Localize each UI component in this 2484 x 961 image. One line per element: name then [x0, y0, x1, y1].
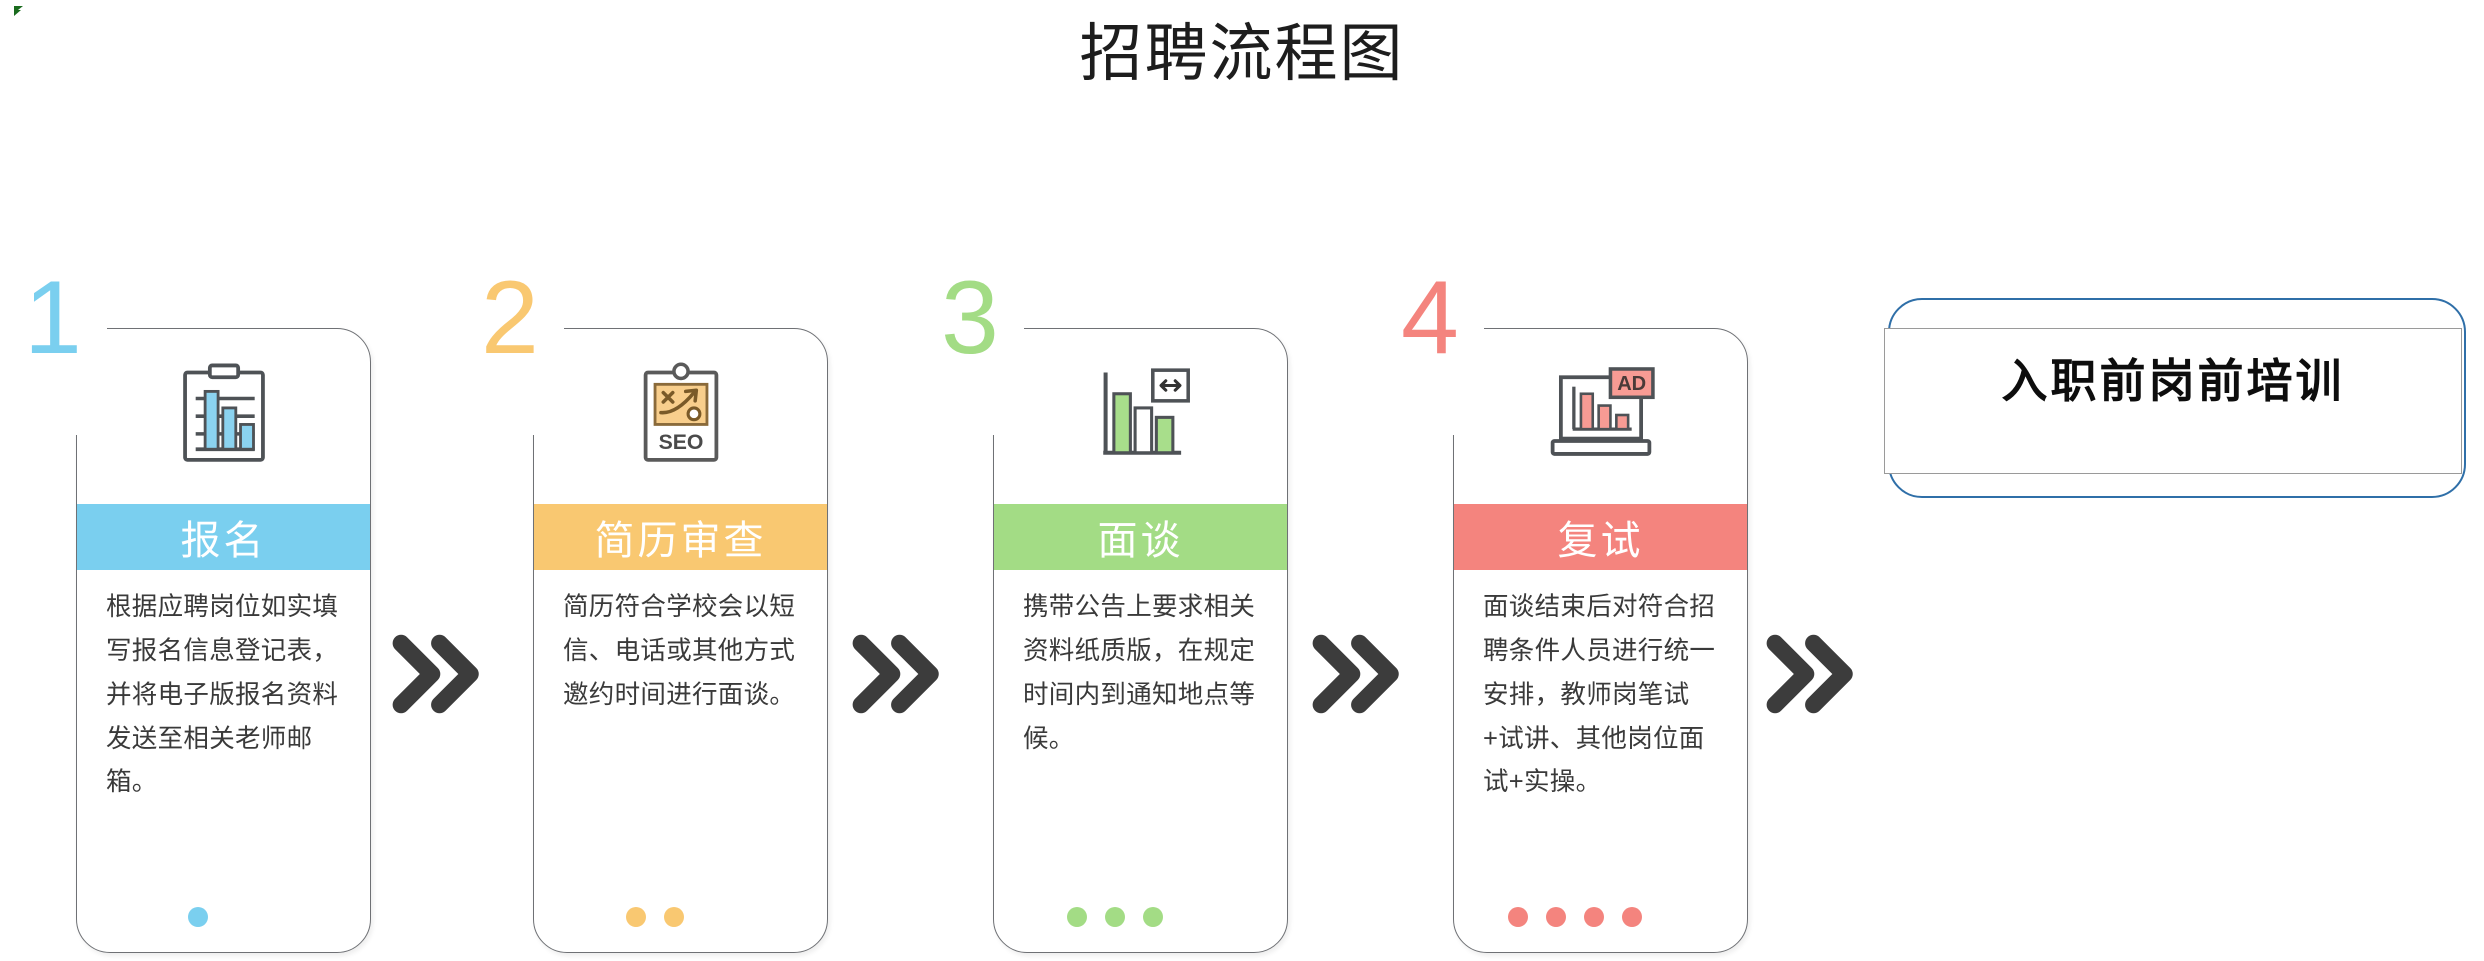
flow-step-card-2[interactable]: 2 SEO 简历审查 简历符合学校会以短信、电话或其他方式邀约时间进行面谈。 — [533, 328, 828, 953]
dot — [1067, 907, 1087, 927]
flow-step-card-3[interactable]: 3 面谈 携带公告上要求相关资料纸质版，在规定时间内到通知地点等候。 — [993, 328, 1288, 953]
dot — [1508, 907, 1528, 927]
dot — [1105, 907, 1125, 927]
final-stage-label: 入职前岗前培训 — [1885, 345, 2461, 411]
double-chevron-right-icon — [390, 634, 486, 714]
dot — [1622, 907, 1642, 927]
dot — [626, 907, 646, 927]
step-header-1: 报名 — [77, 504, 370, 570]
clipboard-seo-growth-icon: SEO — [622, 356, 740, 474]
step-dots-4 — [1453, 907, 1748, 927]
icon-label-ad: AD — [1617, 373, 1646, 395]
dot — [664, 907, 684, 927]
dot — [188, 907, 208, 927]
step-number-4: 4 — [1401, 266, 1457, 370]
step-number-1: 1 — [24, 266, 80, 370]
dot — [1143, 907, 1163, 927]
step-body-1: 根据应聘岗位如实填写报名信息登记表，并将电子版报名资料发送至相关老师邮箱。 — [106, 586, 349, 805]
final-stage-box[interactable]: 入职前岗前培训 — [1888, 298, 2466, 498]
page-title: 招聘流程图 — [0, 18, 2484, 90]
step-header-4: 复试 — [1454, 504, 1747, 570]
flow-step-card-4[interactable]: 4 AD 复试 面谈结束后对符合招聘条件人员进行统一安排，教师岗笔试+试讲、其他… — [1453, 328, 1748, 953]
final-stage-inner-frame: 入职前岗前培训 — [1884, 328, 2462, 474]
flow-step-card-1[interactable]: 1 报名 根据应聘岗位如实填写报名信息登记表，并将电子版报名资料发送至相关老师邮… — [76, 328, 371, 953]
step-body-2: 简历符合学校会以短信、电话或其他方式邀约时间进行面谈。 — [563, 586, 806, 718]
step-body-4: 面谈结束后对符合招聘条件人员进行统一安排，教师岗笔试+试讲、其他岗位面试+实操。 — [1483, 586, 1726, 805]
step-dots-2 — [533, 907, 828, 927]
step-dots-1 — [76, 907, 371, 927]
dot — [1584, 907, 1604, 927]
icon-label-seo: SEO — [658, 430, 703, 454]
step-header-2: 简历审查 — [534, 504, 827, 570]
flag-marker-icon — [11, 5, 25, 19]
step-number-3: 3 — [941, 266, 997, 370]
step-dots-3 — [993, 907, 1288, 927]
bar-chart-exchange-icon — [1082, 356, 1200, 474]
step-header-3: 面谈 — [994, 504, 1287, 570]
dot — [1546, 907, 1566, 927]
monitor-ad-chart-icon: AD — [1542, 356, 1660, 474]
step-body-3: 携带公告上要求相关资料纸质版，在规定时间内到通知地点等候。 — [1023, 586, 1266, 761]
double-chevron-right-icon — [1764, 634, 1860, 714]
double-chevron-right-icon — [1310, 634, 1406, 714]
double-chevron-right-icon — [850, 634, 946, 714]
clipboard-bar-chart-icon — [165, 356, 283, 474]
step-number-2: 2 — [481, 266, 537, 370]
